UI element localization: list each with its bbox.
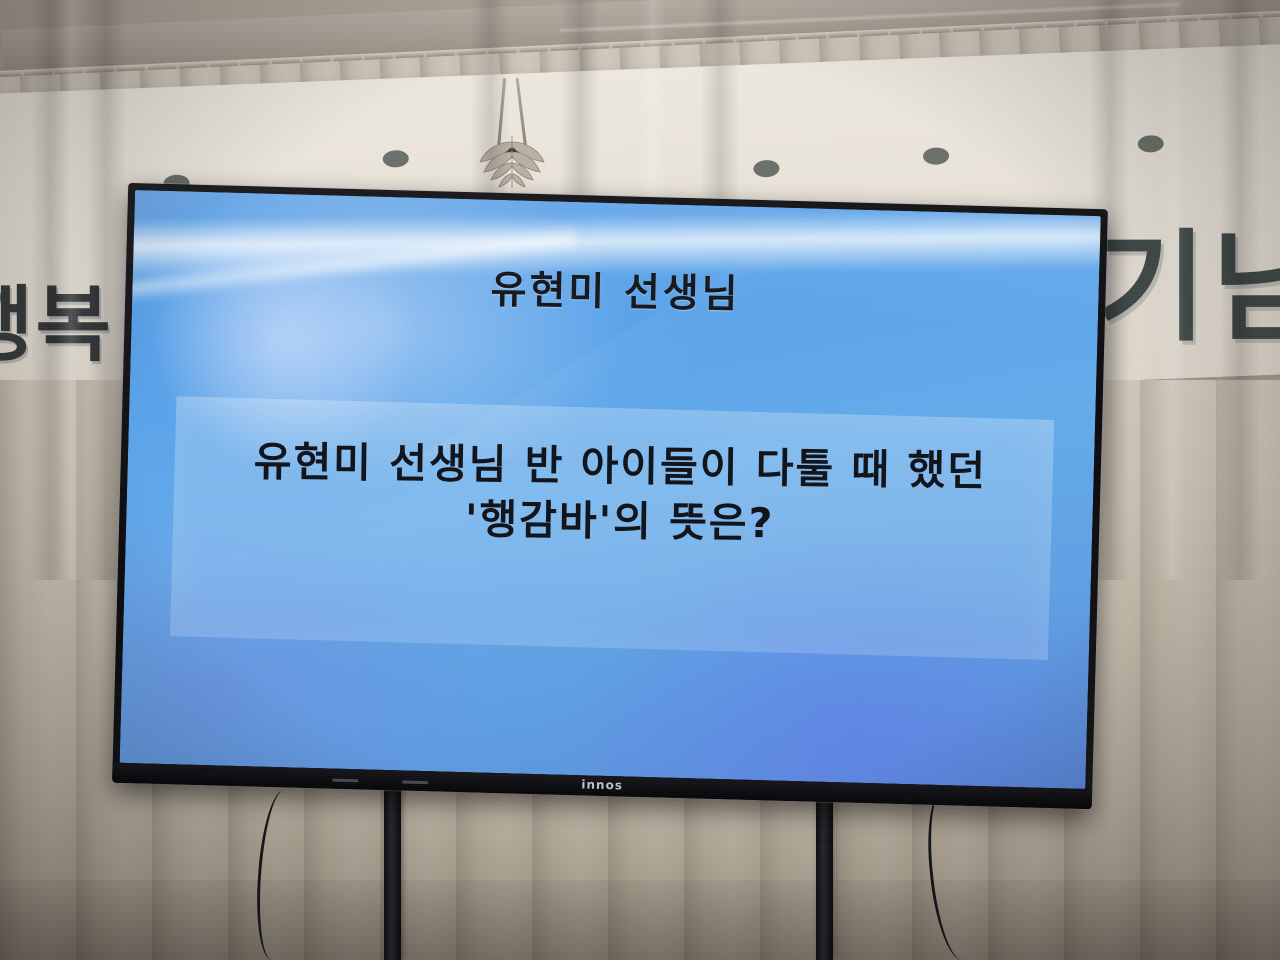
photo-scene: 행복 2023 기남 (0, 0, 1280, 960)
curtain-highlight (58, 0, 84, 580)
curtain-fold (1220, 0, 1260, 580)
stand-pole-right (816, 786, 833, 960)
slide-question: 유현미 선생님 반 아이들이 다툴 때 했던 '행감바'의 뜻은? (186, 438, 1053, 560)
television[interactable]: 유현미 선생님 유현미 선생님 반 아이들이 다툴 때 했던 '행감바'의 뜻은… (112, 183, 1108, 809)
floor-shadow (0, 880, 1280, 960)
tv-screen[interactable]: 유현미 선생님 유현미 선생님 반 아이들이 다툴 때 했던 '행감바'의 뜻은… (120, 190, 1101, 789)
curtain-highlight (1160, 0, 1186, 580)
question-line-2: '행감바'의 뜻은? (186, 485, 1053, 560)
banner-dot (923, 147, 950, 165)
banner-dot (753, 160, 780, 178)
banner-dot (382, 150, 409, 168)
stand-pole-left (384, 786, 401, 960)
tv-bezel: 유현미 선생님 유현미 선생님 반 아이들이 다툴 때 했던 '행감바'의 뜻은… (112, 183, 1108, 809)
